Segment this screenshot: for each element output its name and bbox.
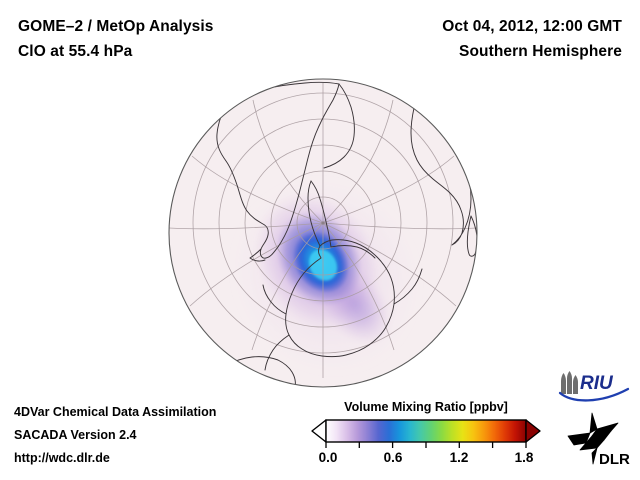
- colorbar-gradient: [326, 420, 526, 442]
- footer-line-version: SACADA Version 2.4: [14, 424, 216, 447]
- coastline-australia-south: [226, 366, 229, 385]
- orthographic-projection: [168, 78, 478, 388]
- dlr-logo: DLR: [566, 412, 630, 468]
- page-subtitle: ClO at 55.4 hPa: [18, 39, 214, 64]
- hemisphere-label: Southern Hemisphere: [442, 39, 622, 64]
- riu-wordmark: RIU: [580, 373, 614, 394]
- colorbar-tick-4: 1.2: [450, 450, 469, 465]
- header-right: Oct 04, 2012, 12:00 GMT Southern Hemisph…: [442, 14, 622, 64]
- globe-map: [168, 78, 478, 388]
- dlr-wordmark: DLR: [599, 451, 630, 468]
- colorbar-tick-0: 0.0: [319, 450, 338, 465]
- south-pole-marker: [321, 221, 324, 224]
- colorbar-max-arrow: [526, 420, 540, 442]
- riu-logo: RIU: [558, 370, 630, 404]
- coastline-africa-north: [416, 92, 451, 101]
- colorbar-tick-labels: 0.0 0.6 1.2 1.8: [319, 450, 534, 465]
- colorbar-tick-6: 1.8: [515, 450, 534, 465]
- colorbar-title: Volume Mixing Ratio [ppbv]: [310, 400, 542, 414]
- colorbar-tick-2: 0.6: [384, 450, 403, 465]
- colorbar-ticks: [326, 442, 526, 448]
- riu-towers-icon: [561, 371, 578, 394]
- colorbar-scale: 0.0 0.6 1.2 1.8: [310, 419, 542, 467]
- footer-line-method: 4DVar Chemical Data Assimilation: [14, 401, 216, 424]
- page-title: GOME–2 / MetOp Analysis: [18, 14, 214, 39]
- colorbar: Volume Mixing Ratio [ppbv]: [310, 400, 542, 467]
- footer-credits: 4DVar Chemical Data Assimilation SACADA …: [14, 401, 216, 470]
- colorbar-min-arrow: [312, 420, 326, 442]
- header-left: GOME–2 / MetOp Analysis ClO at 55.4 hPa: [18, 14, 214, 64]
- timestamp-label: Oct 04, 2012, 12:00 GMT: [442, 14, 622, 39]
- footer-line-url[interactable]: http://wdc.dlr.de: [14, 447, 216, 470]
